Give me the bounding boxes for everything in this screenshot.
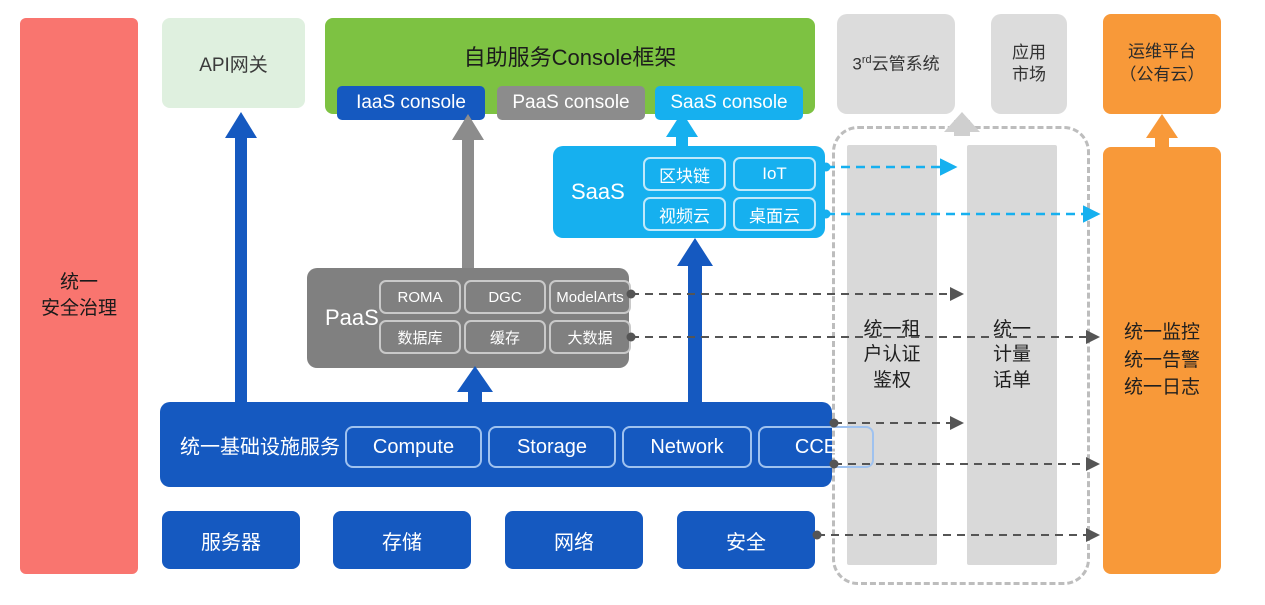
saas-tag-video-cloud-label: 视频云 [659,202,710,227]
saas-console-label: SaaS console [670,92,787,114]
api-gateway-label: API网关 [199,50,268,77]
unified-monitoring-panel[interactable]: 统一监控 统一告警 统一日志 [1103,147,1221,574]
infra-tag-cce[interactable]: CCE [758,426,874,468]
hardware-item-storage[interactable]: 存储 [333,511,471,569]
paas-tag-database[interactable]: 数据库 [379,320,461,354]
hardware-server-label: 服务器 [201,526,261,555]
ops-platform-public-cloud-box[interactable]: 运维平台 （公有云） [1103,14,1221,114]
saas-tag-desktop-cloud[interactable]: 桌面云 [733,197,816,231]
paas-layer-box: PaaS ROMA DGC ModelArts 数据库 缓存 大数据 [307,268,629,368]
saas-layer-box: SaaS 区块链 IoT 视频云 桌面云 [553,146,825,238]
third-party-cloud-mgmt-box[interactable]: 3rd云管系统 [837,14,955,114]
app-market-line2: 市场 [1012,64,1046,86]
column-metering-line3: 话单 [993,368,1031,394]
unified-security-governance-panel[interactable]: 统一 安全治理 [20,18,138,574]
hardware-network-label: 网络 [554,526,594,555]
paas-console-label: PaaS console [512,92,629,114]
paas-tag-database-label: 数据库 [397,327,442,348]
column-tenant-auth-line2: 户认证 [863,342,920,368]
saas-tag-blockchain[interactable]: 区块链 [643,157,726,191]
saas-tag-blockchain-label: 区块链 [659,162,710,187]
infra-label: 统一基础设施服务 [180,430,340,459]
ops-panel-line2: 统一告警 [1124,347,1200,375]
column-metering-line1: 统一 [993,317,1031,343]
arrow-paas-to-console [452,114,484,268]
column-metering-line2: 计量 [993,342,1031,368]
infra-tag-network[interactable]: Network [622,426,752,468]
column-metering-billing: 统一 计量 话单 [967,145,1057,565]
third-party-sup: rd [862,54,872,66]
app-market-box[interactable]: 应用 市场 [991,14,1067,114]
paas-tag-dgc[interactable]: DGC [464,280,546,314]
paas-tag-dgc-label: DGC [488,289,521,306]
paas-label: PaaS [325,305,379,331]
column-tenant-auth-line3: 鉴权 [873,368,911,394]
iaas-console-label: IaaS console [356,92,466,114]
arrow-infra-to-api-gateway [225,112,257,402]
security-label-line1: 统一 [60,270,98,296]
paas-tag-cache-label: 缓存 [490,327,520,348]
infra-tag-storage[interactable]: Storage [488,426,616,468]
third-party-label: 3rd云管系统 [852,53,939,76]
ops-top-line1: 运维平台 [1128,41,1196,64]
paas-tag-bigdata[interactable]: 大数据 [549,320,631,354]
hardware-item-network[interactable]: 网络 [505,511,643,569]
ops-panel-line1: 统一监控 [1124,319,1200,347]
saas-tag-iot[interactable]: IoT [733,157,816,191]
hardware-storage-label: 存储 [382,526,422,555]
paas-console-chip[interactable]: PaaS console [497,86,645,120]
ops-panel-line3: 统一日志 [1124,374,1200,402]
arrow-ops-panel-to-ops-top [1146,114,1178,148]
infra-tag-compute-label: Compute [373,436,454,459]
infra-tag-storage-label: Storage [517,436,587,459]
infra-tag-compute[interactable]: Compute [345,426,482,468]
paas-tag-cache[interactable]: 缓存 [464,320,546,354]
hardware-item-server[interactable]: 服务器 [162,511,300,569]
saas-tag-desktop-cloud-label: 桌面云 [749,202,800,227]
paas-tag-roma-label: ROMA [398,289,443,306]
saas-label: SaaS [571,179,625,205]
security-label-line2: 安全治理 [41,296,117,322]
ops-top-line2: （公有云） [1120,64,1205,87]
console-frame-title: 自助服务Console框架 [325,40,815,72]
api-gateway-box[interactable]: API网关 [162,18,305,108]
column-tenant-auth-line1: 统一租 [863,317,920,343]
app-market-line1: 应用 [1012,42,1046,64]
saas-console-chip[interactable]: SaaS console [655,86,803,120]
architecture-diagram: 统一租 户认证 鉴权 统一 计量 话单 统一 安全治理 API网关 自助服务Co… [0,0,1265,605]
paas-tag-roma[interactable]: ROMA [379,280,461,314]
self-service-console-frame: 自助服务Console框架 IaaS console PaaS console … [325,18,815,114]
arrow-infra-to-saas [677,238,713,402]
iaas-console-chip[interactable]: IaaS console [337,86,485,120]
column-tenant-auth: 统一租 户认证 鉴权 [847,145,937,565]
infra-tag-cce-label: CCE [795,436,837,459]
hardware-security-label: 安全 [726,526,766,555]
paas-tag-modelarts[interactable]: ModelArts [549,280,631,314]
paas-tag-bigdata-label: 大数据 [567,327,612,348]
saas-tag-video-cloud[interactable]: 视频云 [643,197,726,231]
saas-tag-iot-label: IoT [762,164,787,184]
infra-tag-network-label: Network [650,436,723,459]
unified-infrastructure-services-bar: 统一基础设施服务 Compute Storage Network CCE [160,402,832,487]
hardware-item-security[interactable]: 安全 [677,511,815,569]
arrow-infra-to-paas [457,366,493,402]
paas-tag-modelarts-label: ModelArts [556,289,624,306]
